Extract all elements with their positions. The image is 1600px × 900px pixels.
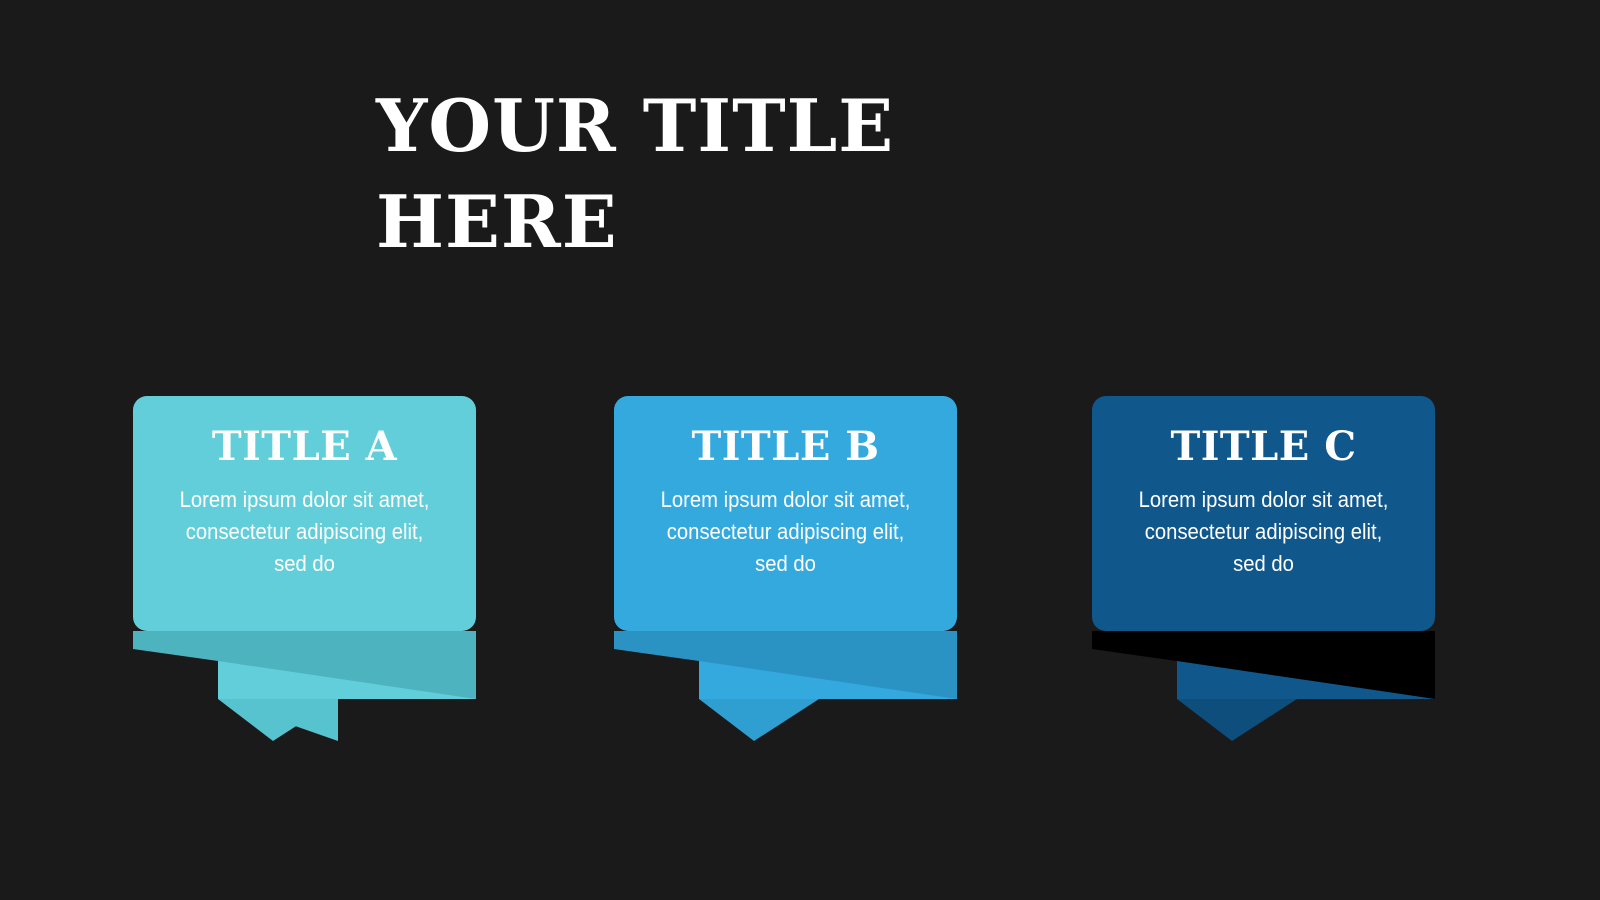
tail-tip-b bbox=[699, 699, 819, 741]
card-body-b: TITLE B Lorem ipsum dolor sit amet, cons… bbox=[614, 396, 957, 631]
ribbon-tail-a bbox=[133, 631, 476, 741]
tail-tip-c bbox=[1177, 699, 1297, 741]
ribbon-tail-c bbox=[1092, 631, 1435, 741]
ribbon-tail-b bbox=[614, 631, 957, 741]
page-title: YOUR TITLE HERE bbox=[376, 78, 1016, 271]
card-heading-b: TITLE B bbox=[636, 426, 935, 468]
info-card-b[interactable]: TITLE B Lorem ipsum dolor sit amet, cons… bbox=[614, 396, 957, 631]
card-body-c: TITLE C Lorem ipsum dolor sit amet, cons… bbox=[1092, 396, 1435, 631]
info-card-c[interactable]: TITLE C Lorem ipsum dolor sit amet, cons… bbox=[1092, 396, 1435, 631]
card-text-a: Lorem ipsum dolor sit amet, consectetur … bbox=[167, 484, 442, 580]
info-card-a[interactable]: TITLE A Lorem ipsum dolor sit amet, cons… bbox=[133, 396, 476, 631]
card-text-c: Lorem ipsum dolor sit amet, consectetur … bbox=[1126, 484, 1401, 580]
card-text-b: Lorem ipsum dolor sit amet, consectetur … bbox=[648, 484, 923, 580]
card-heading-c: TITLE C bbox=[1114, 426, 1413, 468]
slide-canvas: YOUR TITLE HERE TITLE A Lorem ipsum dolo… bbox=[0, 0, 1600, 900]
card-heading-a: TITLE A bbox=[155, 426, 454, 468]
card-body-a: TITLE A Lorem ipsum dolor sit amet, cons… bbox=[133, 396, 476, 631]
